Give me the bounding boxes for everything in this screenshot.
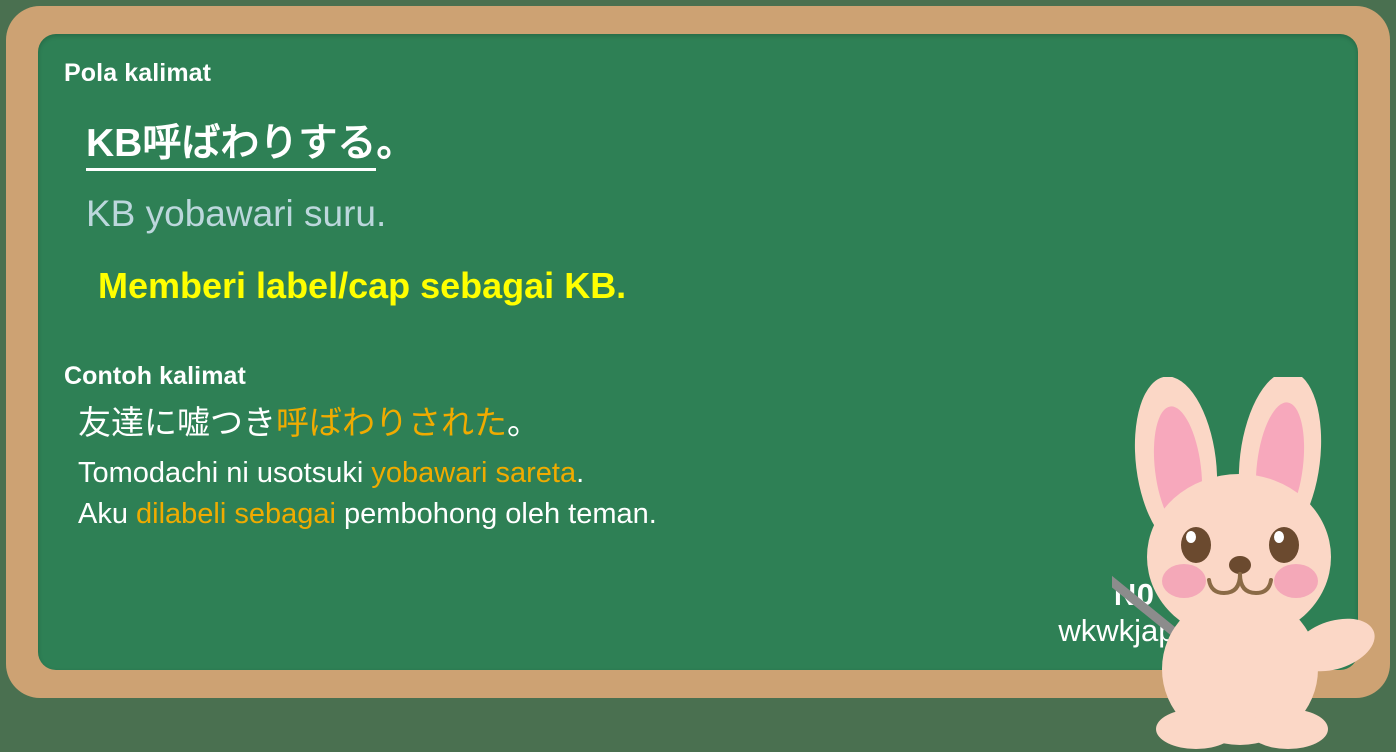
blackboard-frame: Pola kalimat KB呼ばわりする。 KB yobawari suru.… [6,6,1390,698]
example-japanese-line: 友達に嘘つき呼ばわりされた。 [78,403,1332,443]
example-romaji-part-2: . [576,457,584,489]
example-japanese-part-2: 。 [507,404,540,441]
pattern-heading: Pola kalimat [64,58,1332,88]
example-heading: Contoh kalimat [64,361,1332,391]
brand-block: N0 wkwkjapan [1058,578,1210,648]
example-romaji-line: Tomodachi ni usotsuki yobawari sareta. [78,454,1332,492]
example-japanese-part-1: 友達に嘘つき [78,404,276,441]
board-content: Pola kalimat KB呼ばわりする。 KB yobawari suru.… [38,34,1358,670]
example-translation-part-2: pembohong oleh teman. [336,498,657,530]
example-japanese-highlight: 呼ばわりされた [276,404,507,441]
blackboard-surface: Pola kalimat KB呼ばわりする。 KB yobawari suru.… [38,34,1358,670]
example-section: Contoh kalimat 友達に嘘つき呼ばわりされた。 Tomodachi … [64,361,1332,533]
brand-name: wkwkjapan [1058,614,1210,648]
example-translation-line: Aku dilabeli sebagai pembohong oleh tema… [78,495,1332,533]
example-romaji-part-1: Tomodachi ni usotsuki [78,457,371,489]
pattern-romaji-line: KB yobawari suru. [86,193,1332,236]
example-translation-part-1: Aku [78,498,136,530]
level-badge: N0 [1058,578,1210,612]
pattern-section: Pola kalimat KB呼ばわりする。 KB yobawari suru.… [64,58,1332,307]
pattern-japanese-underlined: KB呼ばわりする [86,122,376,171]
pattern-japanese-line: KB呼ばわりする。 [86,122,1332,167]
pattern-japanese-tail: 。 [376,122,415,165]
example-romaji-highlight: yobawari sareta [371,457,576,489]
pattern-meaning-line: Memberi label/cap sebagai KB. [98,265,1332,306]
example-translation-highlight: dilabeli sebagai [136,498,336,530]
